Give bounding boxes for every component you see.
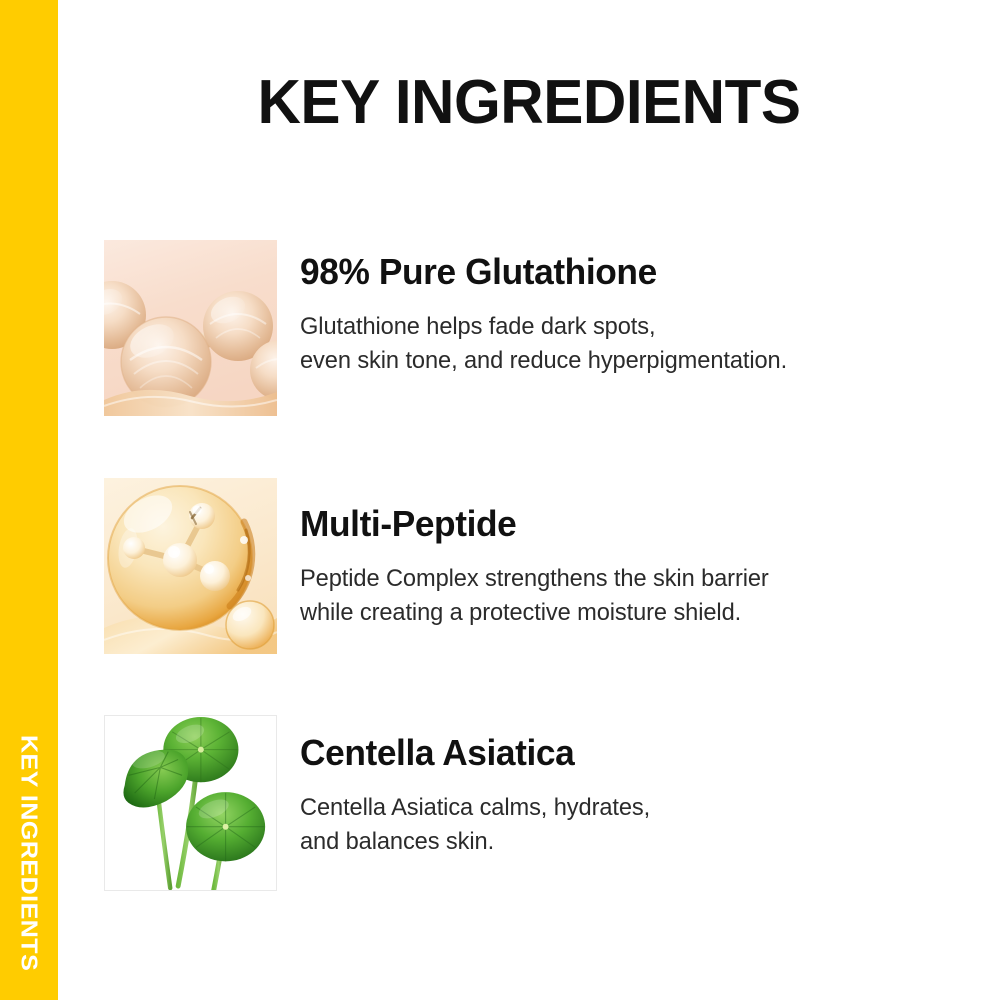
centella-leaves-illustration xyxy=(104,715,277,891)
peptide-golden-oil-droplet-image xyxy=(104,478,277,654)
ingredient-description: Glutathione helps fade dark spots, even … xyxy=(300,310,954,378)
ingredient-row: 98% Pure Glutathione Glutathione helps f… xyxy=(104,240,964,416)
side-rail-label: KEY INGREDIENTS xyxy=(2,735,56,980)
glutathione-molecule-spheres-image xyxy=(104,240,277,416)
centella-asiatica-leaves-image xyxy=(104,715,277,891)
ingredient-name: Multi-Peptide xyxy=(300,504,951,544)
ingredient-text-block: Multi-Peptide Peptide Complex strengthen… xyxy=(300,504,964,630)
page-title: KEY INGREDIENTS xyxy=(72,72,986,134)
ingredient-text-block: Centella Asiatica Centella Asiatica calm… xyxy=(300,733,964,859)
ingredient-name: 98% Pure Glutathione xyxy=(300,252,951,292)
key-ingredients-page: KEY INGREDIENTS KEY INGREDIENTS xyxy=(0,0,1000,1000)
ingredient-description: Peptide Complex strengthens the skin bar… xyxy=(300,562,954,630)
molecule-illustration xyxy=(104,240,277,416)
ingredient-name: Centella Asiatica xyxy=(300,733,951,773)
side-rail: KEY INGREDIENTS xyxy=(0,0,58,1000)
ingredient-text-block: 98% Pure Glutathione Glutathione helps f… xyxy=(300,252,964,378)
oil-droplet-illustration xyxy=(104,478,277,654)
ingredient-description: Centella Asiatica calms, hydrates, and b… xyxy=(300,791,954,859)
ingredient-row: Centella Asiatica Centella Asiatica calm… xyxy=(104,715,964,891)
ingredient-row: Multi-Peptide Peptide Complex strengthen… xyxy=(104,478,964,654)
